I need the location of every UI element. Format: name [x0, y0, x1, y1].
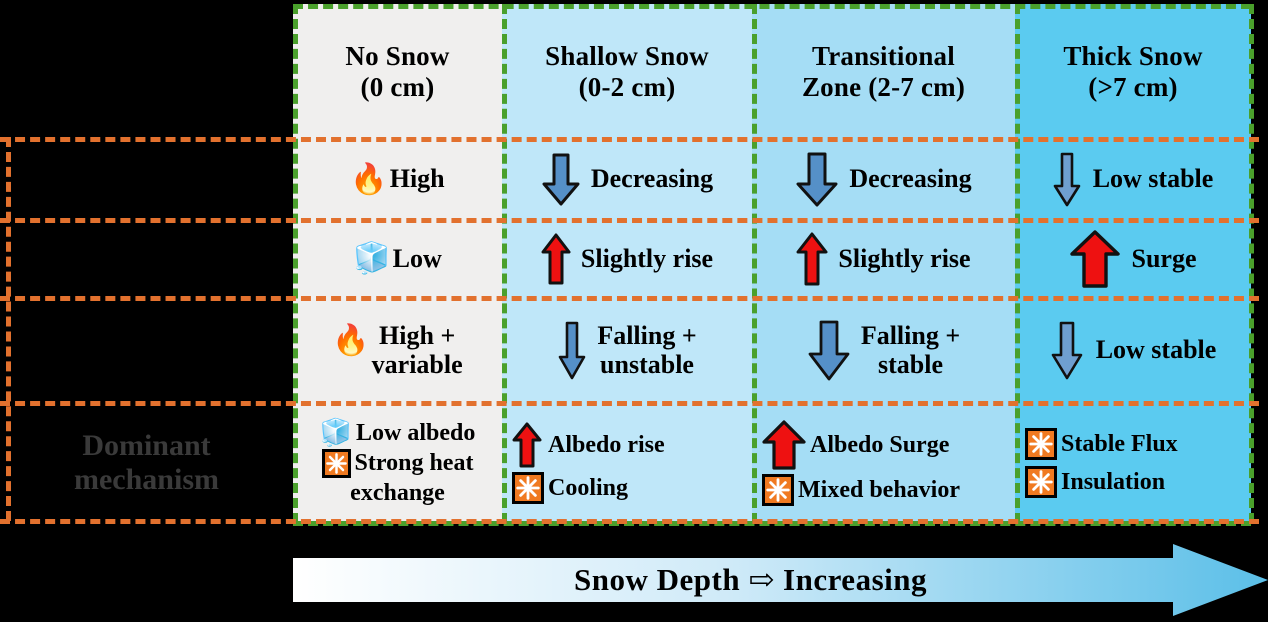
cell-text-r4c1-l2: Strong heat [355, 450, 474, 477]
cell-text-r4c3-l1: Albedo Surge [810, 432, 949, 459]
fire-emoji: 🔥 [350, 165, 387, 195]
cell-text-r2c2: Slightly rise [581, 245, 713, 274]
cell-text-r4c1-l1: Low albedo [356, 420, 475, 447]
column-header-range-2: Zone (2-7 cm) [802, 72, 965, 102]
table-cell-r2c3: Slightly rise [752, 220, 1015, 298]
cell-text-r2c4: Surge [1132, 245, 1197, 274]
table-cell-r3c3: Falling + stable [752, 298, 1015, 403]
starburst-icon [1025, 466, 1057, 498]
cell-text-r1c3: Decreasing [849, 165, 971, 194]
table-cell-r1c1: 🔥 High [293, 139, 502, 220]
table-cell-r3c4: Low stable [1015, 298, 1251, 403]
column-header-name-3: Thick Snow [1063, 41, 1202, 71]
row-label-spacer [0, 4, 293, 139]
starburst-icon [512, 472, 544, 504]
mechanism-line: 🧊 Low albedo [320, 420, 476, 447]
mechanism-line: Albedo rise [512, 422, 665, 468]
cell-text-r4c1-l3: exchange [350, 480, 445, 507]
cell-text-r4c2-l2: Cooling [548, 475, 628, 502]
column-header-range-0: (0 cm) [345, 72, 449, 102]
cell-text-r3c1: High + variable [372, 322, 463, 379]
table-cell-r2c1: 🧊 Low [293, 220, 502, 298]
mechanism-line: Stable Flux [1025, 428, 1178, 460]
snow-depth-axis-arrow: Snow Depth ⇨ Increasing [293, 544, 1268, 616]
column-header-name-0: No Snow [345, 41, 449, 71]
cell-text-r4c3-l2: Mixed behavior [798, 477, 960, 504]
cell-text-r1c2: Decreasing [591, 165, 713, 194]
table-cell-r2c2: Slightly rise [502, 220, 752, 298]
arrow-down-blue-icon [1050, 321, 1084, 381]
table-cell-r3c2: Falling + unstable [502, 298, 752, 403]
cell-text-r3c4: Low stable [1096, 336, 1217, 365]
regime-table: No Snow (0 cm) Shallow Snow (0-2 cm) Tra… [293, 4, 1251, 523]
cell-text-r4c4-l1: Stable Flux [1061, 431, 1178, 458]
column-header-range-3: (>7 cm) [1063, 72, 1202, 102]
column-header-transitional-zone: Transitional Zone (2-7 cm) [752, 4, 1015, 139]
mechanism-line: Mixed behavior [762, 474, 960, 506]
arrow-down-blue-icon [795, 152, 839, 208]
mechanism-line: Cooling [512, 472, 628, 504]
row-label-column: Dominant mechanism [0, 4, 293, 523]
arrow-up-red-icon [512, 422, 542, 468]
cell-text-r2c3: Slightly rise [838, 245, 970, 274]
cell-text-r3c3: Falling + stable [861, 322, 960, 379]
column-header-name-1: Shallow Snow [545, 41, 709, 71]
row-label-3 [0, 298, 293, 403]
mechanism-line: Strong heat [322, 449, 474, 478]
arrow-down-blue-icon [1053, 152, 1081, 208]
ice-cube-emoji: 🧊 [320, 420, 352, 446]
cell-text-r4c2-l1: Albedo rise [548, 432, 665, 459]
arrow-up-red-icon [1070, 230, 1120, 288]
arrow-down-blue-icon [807, 320, 851, 382]
starburst-icon [1025, 428, 1057, 460]
snow-depth-axis-label: Snow Depth ⇨ Increasing [293, 544, 1208, 616]
table-cell-r1c3: Decreasing [752, 139, 1015, 220]
cell-text-r1c1: High [390, 165, 445, 194]
figure-root: Dominant mechanism No Snow (0 cm) Shallo… [0, 0, 1268, 622]
arrow-down-blue-icon [557, 321, 587, 381]
table-cell-r4c2: Albedo rise Cooling [502, 403, 752, 523]
table-cell-r2c4: Surge [1015, 220, 1251, 298]
row-label-dominant-mechanism: Dominant mechanism [0, 403, 293, 523]
table-cell-r4c1: 🧊 Low albedo Strong heat exchange [293, 403, 502, 523]
starburst-icon [322, 449, 351, 478]
row-label-1 [0, 139, 293, 220]
row-label-2 [0, 220, 293, 298]
column-header-shallow-snow: Shallow Snow (0-2 cm) [502, 4, 752, 139]
fire-emoji: 🔥 [332, 326, 369, 356]
mechanism-line: Insulation [1025, 466, 1165, 498]
table-cell-r4c3: Albedo Surge Mixed behavior [752, 403, 1015, 523]
cell-text-r2c1: Low [393, 245, 442, 274]
ice-cube-emoji: 🧊 [353, 244, 390, 274]
arrow-down-blue-icon [541, 153, 581, 207]
table-cell-r1c2: Decreasing [502, 139, 752, 220]
arrow-up-red-icon [762, 420, 806, 470]
starburst-icon [762, 474, 794, 506]
table-cell-r4c4: Stable Flux Insulation [1015, 403, 1251, 523]
arrow-up-red-icon [796, 232, 828, 286]
mechanism-line: Albedo Surge [762, 420, 949, 470]
column-header-no-snow: No Snow (0 cm) [293, 4, 502, 139]
arrow-up-red-icon [541, 233, 571, 285]
table-cell-r1c4: Low stable [1015, 139, 1251, 220]
table-cell-r3c1: 🔥 High + variable [293, 298, 502, 403]
cell-text-r3c2: Falling + unstable [597, 322, 696, 379]
column-header-range-1: (0-2 cm) [545, 72, 709, 102]
column-header-thick-snow: Thick Snow (>7 cm) [1015, 4, 1251, 139]
cell-text-r4c4-l2: Insulation [1061, 469, 1165, 496]
cell-text-r1c4: Low stable [1093, 165, 1214, 194]
mechanism-line: exchange [350, 480, 445, 507]
column-header-name-2: Transitional [802, 41, 965, 71]
